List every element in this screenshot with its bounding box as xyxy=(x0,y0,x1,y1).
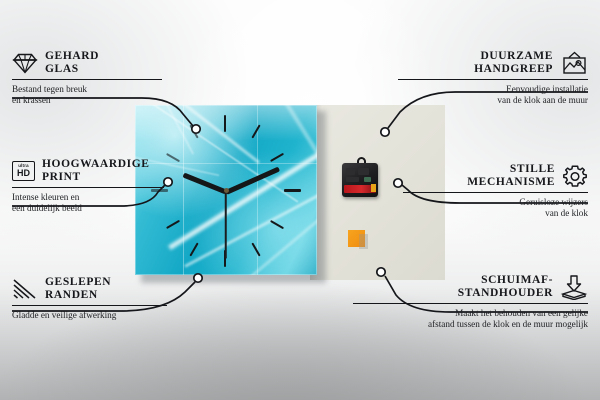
feature-header: ultra HD HOOGWAARDIGE PRINT xyxy=(12,158,164,184)
feature-desc-line2: van de klok xyxy=(403,208,588,219)
feature-desc-line1: Maakt het behouden van een gelijke xyxy=(353,308,588,319)
feature-schuimafstandhouder: SCHUIMAF- STANDHOUDER Maakt het behouden… xyxy=(353,274,588,330)
second-hand xyxy=(225,191,227,259)
feature-title-line1: SCHUIMAF- xyxy=(458,274,553,287)
feature-desc-line1: Intense kleuren en xyxy=(12,192,164,203)
feature-desc-line1: Eenvoudige installatie xyxy=(398,84,588,95)
feature-header: GESLEPEN RANDEN xyxy=(12,276,167,302)
feature-title-line1: DUURZAME xyxy=(474,50,553,63)
feature-rule xyxy=(12,187,164,188)
feature-desc-line2: van de klok aan de muur xyxy=(398,95,588,106)
feature-header: DUURZAME HANDGREEP xyxy=(398,50,588,76)
feature-desc-line2: afstand tussen de klok en de muur mogeli… xyxy=(353,319,588,330)
hour-marker xyxy=(224,115,226,132)
feature-desc-line2: een duidelijk beeld xyxy=(12,203,164,214)
feature-title-line2: HANDGREEP xyxy=(474,63,553,76)
feature-rule xyxy=(403,192,588,193)
feature-stille-mechanisme: STILLE MECHANISME Geruisloze wijzers van… xyxy=(403,163,588,219)
feature-rule xyxy=(12,79,162,80)
feature-title-line1: STILLE xyxy=(467,163,555,176)
hour-marker xyxy=(284,189,301,192)
gear-icon xyxy=(562,164,588,189)
feature-desc-line2: en krassen xyxy=(12,95,162,106)
diamond-icon xyxy=(12,52,38,74)
feature-title-line1: GEHARD xyxy=(45,50,99,63)
feature-desc-line1: Gladde en veilige afwerking xyxy=(12,310,167,321)
spacer-pad-icon xyxy=(560,274,588,300)
feature-rule xyxy=(398,79,588,80)
feature-rule xyxy=(353,303,588,304)
infographic-canvas: GEHARD GLAS Bestand tegen breuk en krass… xyxy=(0,0,600,400)
feature-title-line2: GLAS xyxy=(45,63,99,76)
feature-title-line1: HOOGWAARDIGE xyxy=(42,158,150,171)
feature-header: STILLE MECHANISME xyxy=(403,163,588,189)
feature-title-line2: MECHANISME xyxy=(467,176,555,189)
ultra-hd-icon-main: HD xyxy=(17,169,30,178)
feature-title-line2: PRINT xyxy=(42,171,150,184)
feature-title-line2: STANDHOUDER xyxy=(458,287,553,300)
feature-desc-line1: Bestand tegen breuk xyxy=(12,84,162,95)
clock-pivot xyxy=(224,188,229,193)
feature-gehard-glas: GEHARD GLAS Bestand tegen breuk en krass… xyxy=(12,50,162,106)
feature-hoogwaardige-print: ultra HD HOOGWAARDIGE PRINT Intense kleu… xyxy=(12,158,164,214)
feature-duurzame-handgreep: DUURZAME HANDGREEP Eenvoudige installati… xyxy=(398,50,588,106)
picture-frame-icon xyxy=(560,51,588,75)
feature-geslepen-randen: GESLEPEN RANDEN Gladde en veilige afwerk… xyxy=(12,276,167,321)
ultra-hd-icon: ultra HD xyxy=(12,161,35,181)
feature-title-line2: RANDEN xyxy=(45,289,111,302)
battery-terminal xyxy=(371,184,376,192)
beveled-edges-icon xyxy=(12,278,38,300)
feature-rule xyxy=(12,305,167,306)
feature-header: SCHUIMAF- STANDHOUDER xyxy=(353,274,588,300)
feature-desc-line1: Geruisloze wijzers xyxy=(403,197,588,208)
foam-spacer-shadow xyxy=(359,234,368,249)
feature-header: GEHARD GLAS xyxy=(12,50,162,76)
feature-title-line1: GESLEPEN xyxy=(45,276,111,289)
product-photo xyxy=(135,105,445,280)
